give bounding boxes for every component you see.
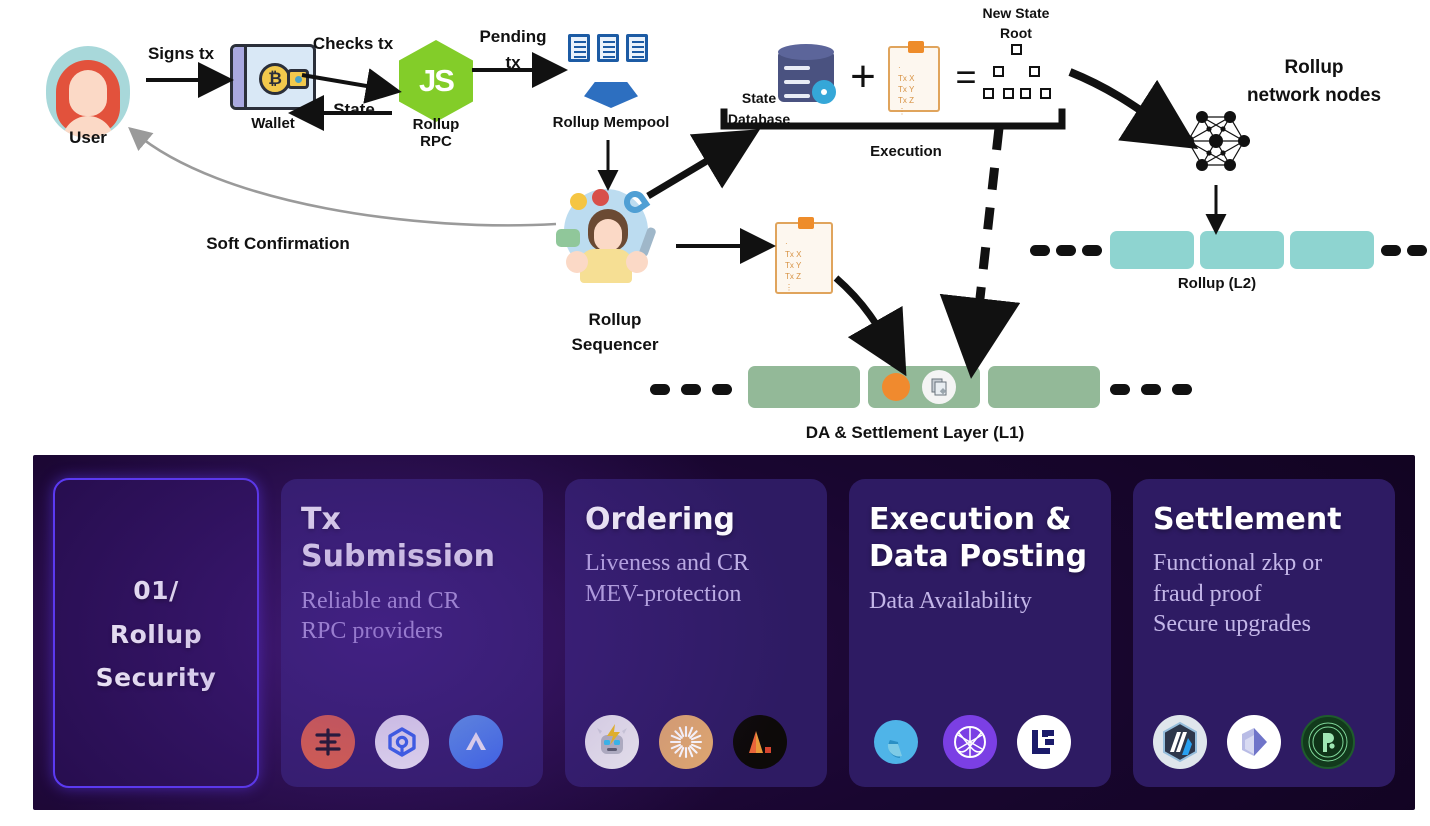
sequencer-person-icon — [556, 185, 656, 289]
rollup-l2-label: Rollup (L2) — [1132, 275, 1302, 292]
chain-dot — [1407, 245, 1427, 256]
tx-note-lines: · Tx X Tx Y Tx Z ⋮ — [898, 62, 914, 117]
card-ordering[interactable]: Ordering Liveness and CR MEV-protection — [565, 479, 827, 787]
sequencer-tx-note-icon: · Tx X Tx Y Tx Z ⋮ — [775, 222, 833, 294]
pending-tx-label: Pending tx — [470, 24, 556, 75]
shutter-logo[interactable] — [659, 715, 713, 769]
wallet-icon: ₿ — [230, 44, 316, 110]
card-settlement[interactable]: Settlement Functional zkp or fraud proof… — [1133, 479, 1395, 787]
user-avatar-icon — [46, 46, 130, 138]
card-title: Settlement — [1153, 501, 1375, 539]
rollup-mempool-label: Rollup Mempool — [528, 114, 694, 131]
flashbots-logo[interactable] — [585, 715, 639, 769]
js-glyph: JS — [419, 63, 453, 99]
merkle-tree-icon — [980, 44, 1054, 108]
card-description: Functional zkp or fraud proof Secure upg… — [1153, 548, 1375, 715]
l1-block-with-blob — [868, 366, 980, 408]
mempool-documents-icon — [564, 34, 656, 112]
chain-dot — [1141, 384, 1161, 395]
pse-logo[interactable] — [1301, 715, 1355, 769]
eigenda-logo[interactable] — [869, 715, 923, 769]
cards-row: 01/ Rollup Security Tx Submission Reliab… — [33, 455, 1415, 810]
proof-document-icon — [922, 370, 956, 404]
l1-block — [988, 366, 1100, 408]
rollup-network-nodes-label: Rollup network nodes — [1232, 54, 1396, 109]
section-number-title: 01/ Rollup Security — [96, 569, 217, 700]
succinct-logo[interactable] — [1227, 715, 1281, 769]
card-logos — [1153, 715, 1375, 769]
rollup-security-panel: 01/ Rollup Security Tx Submission Reliab… — [33, 455, 1415, 810]
card-logos — [585, 715, 807, 769]
checks-tx-label: Checks tx — [305, 34, 401, 54]
state-label: State — [318, 100, 390, 120]
soft-confirmation-label: Soft Confirmation — [190, 234, 366, 254]
blob-orange-icon — [882, 373, 910, 401]
card-logos — [301, 715, 523, 769]
network-nodes-icon — [1180, 105, 1252, 177]
signs-tx-label: Signs tx — [134, 44, 228, 64]
infura-logo[interactable] — [301, 715, 355, 769]
l2-block — [1110, 231, 1194, 269]
da-settlement-layer-label: DA & Settlement Layer (L1) — [740, 423, 1090, 443]
chain-dot — [681, 384, 701, 395]
wallet-label: Wallet — [221, 115, 325, 132]
chain-dot — [1056, 245, 1076, 256]
chain-dot — [1110, 384, 1130, 395]
tx-note-lines: · Tx X Tx Y Tx Z ⋮ — [785, 238, 801, 293]
alchemy-logo[interactable] — [449, 715, 503, 769]
card-logos — [869, 715, 1091, 769]
ankr-logo[interactable] — [375, 715, 429, 769]
chain-dot — [1030, 245, 1050, 256]
rollup-architecture-diagram: User ₿ Wallet JS Rollup RPC Rollup Mempo… — [0, 0, 1430, 452]
new-state-root-label: New State Root — [956, 4, 1076, 43]
avail-logo[interactable] — [1017, 715, 1071, 769]
celestia-logo[interactable] — [943, 715, 997, 769]
chain-dot — [1082, 245, 1102, 256]
card-tx-submission[interactable]: Tx Submission Reliable and CR RPC provid… — [281, 479, 543, 787]
rollup-rpc-label: Rollup RPC — [384, 116, 488, 151]
l1-block — [748, 366, 860, 408]
nodejs-hexagon-icon: JS — [399, 40, 473, 122]
state-database-label: State Database — [700, 88, 818, 130]
plus-sign: + — [845, 52, 881, 103]
card-description: Reliable and CR RPC providers — [301, 586, 523, 715]
chain-dot — [1172, 384, 1192, 395]
card-execution-data-posting[interactable]: Execution & Data Posting Data Availabili… — [849, 479, 1111, 787]
arbitrum-logo[interactable] — [1153, 715, 1207, 769]
card-description: Liveness and CR MEV-protection — [585, 548, 807, 715]
card-description: Data Availability — [869, 586, 1091, 715]
execution-label: Execution — [846, 143, 966, 160]
slide-root: User ₿ Wallet JS Rollup RPC Rollup Mempo… — [0, 0, 1430, 826]
equals-sign: = — [948, 56, 984, 97]
section-intro-card[interactable]: 01/ Rollup Security — [53, 478, 259, 788]
l2-block — [1290, 231, 1374, 269]
card-title: Ordering — [585, 501, 807, 539]
card-title: Execution & Data Posting — [869, 501, 1091, 576]
l2-block — [1200, 231, 1284, 269]
card-title: Tx Submission — [301, 501, 523, 576]
user-label: User — [36, 128, 140, 148]
astria-logo[interactable] — [733, 715, 787, 769]
chain-dot — [650, 384, 670, 395]
chain-dot — [1381, 245, 1401, 256]
chain-dot — [712, 384, 732, 395]
rollup-sequencer-label: Rollup Sequencer — [532, 308, 698, 357]
transaction-note-icon: · Tx X Tx Y Tx Z ⋮ — [888, 46, 940, 112]
